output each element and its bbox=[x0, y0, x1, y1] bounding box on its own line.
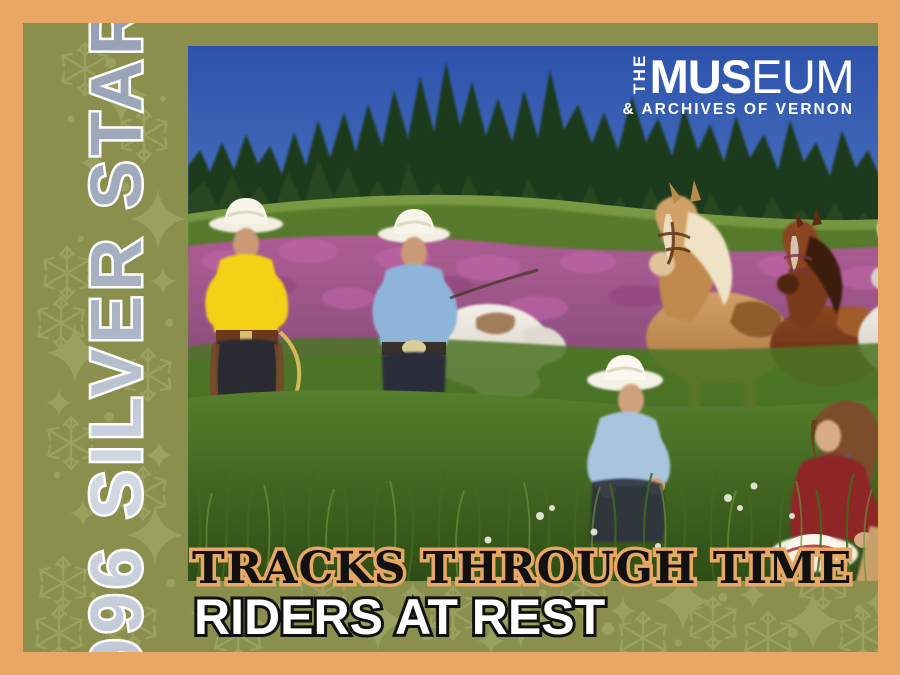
museum-logo-mus: MUS bbox=[650, 57, 751, 97]
sidebar-vertical-title: 1996 SILVER STAR bbox=[46, 46, 188, 652]
olive-panel: 1996 SILVER STAR bbox=[23, 23, 878, 652]
sidebar-title-text: 1996 SILVER STAR bbox=[77, 23, 157, 652]
secondary-title: RIDERS AT REST bbox=[194, 589, 605, 645]
seated-rider-blue-shirt bbox=[587, 355, 670, 542]
primary-title: TRACKS THROUGH TIME bbox=[192, 543, 852, 594]
title-block: TRACKS THROUGH TIME RIDERS AT REST bbox=[188, 541, 878, 652]
museum-logo-subtitle: & ARCHIVES OF VERNON bbox=[623, 102, 854, 118]
museum-logo-eum: EUM bbox=[751, 57, 854, 97]
historic-photograph bbox=[188, 46, 878, 581]
museum-logo: THE MUS EUM & ARCHIVES OF VERNON bbox=[623, 51, 854, 118]
museum-logo-wordmark: THE MUS EUM bbox=[623, 51, 854, 97]
poster-card: 1996 SILVER STAR bbox=[0, 0, 900, 675]
museum-logo-the: THE bbox=[631, 52, 648, 96]
